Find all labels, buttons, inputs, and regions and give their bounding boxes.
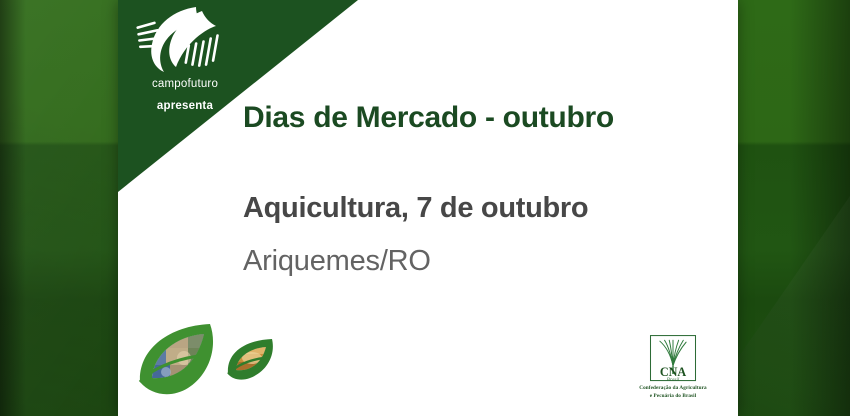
cna-caption: Confederação da Agricultura e Pecuária d… bbox=[614, 385, 732, 400]
slide-subtitle: Aquicultura, 7 de outubro bbox=[243, 192, 588, 225]
brand-presents-label: apresenta bbox=[130, 100, 240, 112]
slide-location: Ariquemes/RO bbox=[243, 245, 431, 278]
cna-caption-line-1: Confederação da Agricultura bbox=[614, 385, 732, 393]
cna-wheat-stalk-icon: CNA Brasil bbox=[643, 334, 703, 384]
dual-leaf-collage-logo-icon bbox=[132, 320, 292, 406]
cna-logo: CNA Brasil Confederação da Agricultura e… bbox=[614, 334, 732, 408]
slide-card: campofuturo apresenta Dias de Mercado - … bbox=[118, 0, 738, 416]
slide-title: Dias de Mercado - outubro bbox=[243, 101, 614, 135]
presentation-slide: campofuturo apresenta Dias de Mercado - … bbox=[0, 0, 850, 416]
brand-name-label: campofuturo bbox=[130, 78, 240, 90]
cna-script-word: Brasil bbox=[667, 377, 680, 383]
cna-caption-line-2: e Pecuária do Brasil bbox=[614, 393, 732, 401]
background-vignette-left bbox=[0, 0, 26, 416]
campofuturo-leaf-icon bbox=[134, 4, 220, 76]
background-vignette-right bbox=[790, 0, 850, 416]
